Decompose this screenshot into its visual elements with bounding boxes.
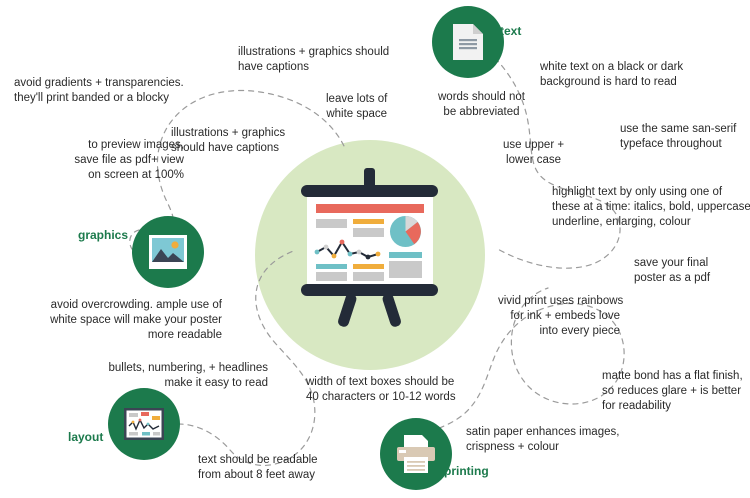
presentation-easel-icon	[290, 168, 450, 316]
pie-chart-icon	[389, 215, 422, 248]
caption-preview-images: to preview images, save file as pdf+ vie…	[42, 138, 184, 184]
node-text[interactable]	[432, 6, 504, 78]
node-label-printing: printing	[444, 464, 489, 478]
caption-text-readable: text should be readable from about 8 fee…	[198, 453, 318, 483]
caption-avoid-gradients: avoid gradients + transparencies. they'l…	[14, 76, 184, 106]
node-label-layout: layout	[68, 430, 103, 444]
infographic-canvas: text graphics layout	[0, 0, 750, 498]
caption-avoid-overcrowding: avoid overcrowding. ample use of white s…	[44, 298, 222, 344]
caption-matte-bond: matte bond has a flat finish, so reduces…	[602, 369, 743, 415]
caption-upper-lower-case: use upper + lower case	[503, 138, 564, 168]
node-printing[interactable]	[380, 418, 452, 490]
caption-width-text-boxes: width of text boxes should be 40 charact…	[306, 375, 456, 405]
node-layout[interactable]	[108, 388, 180, 460]
caption-satin-paper: satin paper enhances images, crispness +…	[466, 425, 619, 455]
caption-leave-white-space: leave lots of white space	[326, 92, 387, 122]
caption-white-text-dark: white text on a black or dark background…	[540, 60, 683, 90]
node-graphics[interactable]	[132, 216, 204, 288]
caption-same-sanserif: use the same san-serif typeface througho…	[620, 122, 736, 152]
node-label-text: text	[500, 24, 521, 38]
caption-save-as-pdf: save your final poster as a pdf	[634, 256, 710, 286]
photo-icon	[148, 233, 188, 271]
caption-illustrations-mid: illustrations + graphics should have cap…	[171, 126, 285, 156]
poster-chart-icon	[123, 407, 165, 441]
caption-words-abbreviated: words should not be abbreviated	[438, 90, 525, 120]
document-icon	[451, 23, 485, 61]
printer-icon	[395, 434, 437, 474]
node-label-graphics: graphics	[78, 228, 128, 242]
caption-highlight-text: highlight text by only using one of thes…	[552, 185, 750, 231]
caption-vivid-print: vivid print uses rainbows for ink + embe…	[498, 294, 620, 340]
caption-bullets-numbering: bullets, numbering, + headlines make it …	[108, 361, 268, 391]
line-chart-icon	[314, 238, 382, 264]
caption-illustrations-top: illustrations + graphics should have cap…	[238, 45, 389, 75]
